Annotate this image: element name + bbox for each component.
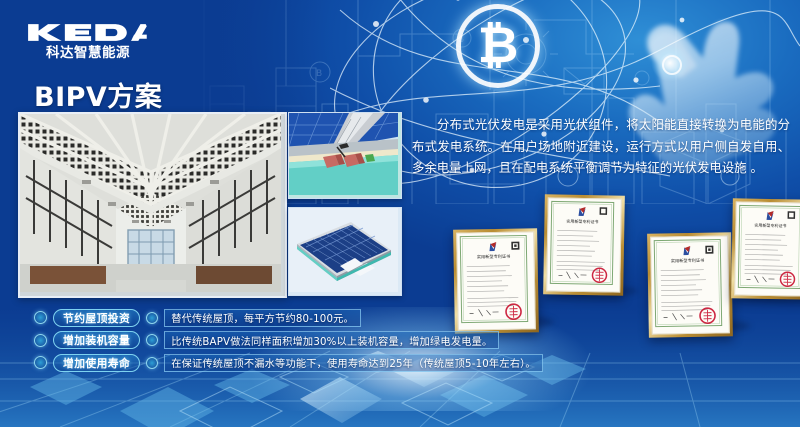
certificate-frame[interactable]: 实用新型专利证书 xyxy=(647,232,733,337)
bitcoin-icon: ₿ xyxy=(456,4,540,88)
bullet-dot-icon xyxy=(34,356,47,369)
page-title: BIPV方案 xyxy=(34,75,162,114)
pv-module-diagram xyxy=(288,207,402,296)
brand-logo[interactable]: 科达智慧能源 xyxy=(26,22,150,64)
certificate-page: 实用新型专利证书 xyxy=(650,235,730,334)
svg-text:实用新型专利证书: 实用新型专利证书 xyxy=(566,218,598,225)
certificate-page: 实用新型专利证书 xyxy=(734,201,800,296)
benefit-row: 增加装机容量 比传统BAPV做法同样面积增加30%以上装机容量，增加绿电发电量。 xyxy=(34,332,434,349)
intro-paragraph: 分布式光伏发电是采用光伏组件，将太阳能直接转换为电能的分布式发电系统。在用户场地… xyxy=(412,114,790,179)
certificate-page: 实用新型专利证书 xyxy=(546,197,622,292)
certificate-frame[interactable]: 实用新型专利证书 xyxy=(731,198,800,299)
benefits-list: 节约屋顶投资 替代传统屋顶，每平方节约80-100元。 增加装机容量 比传统BA… xyxy=(34,309,434,377)
bullet-dot-icon xyxy=(146,312,158,324)
patent-certificates: 实用新型专利证书 xyxy=(440,193,800,333)
certificate-page: 实用新型专利证书 xyxy=(456,231,536,330)
brand-subtitle: 科达智慧能源 xyxy=(26,45,150,61)
touch-point-glow xyxy=(651,44,689,82)
keda-logo-icon xyxy=(26,22,147,43)
benefit-row: 增加使用寿命 在保证传统屋顶不漏水等功能下，使用寿命达到25年（传统屋顶5-10… xyxy=(34,354,434,371)
mounting-detail-diagram xyxy=(288,112,402,199)
benefit-label: 节约屋顶投资 xyxy=(53,309,140,327)
benefit-row: 节约屋顶投资 替代传统屋顶，每平方节约80-100元。 xyxy=(34,309,434,326)
benefit-detail: 比传统BAPV做法同样面积增加30%以上装机容量，增加绿电发电量。 xyxy=(164,331,499,349)
poster-canvas: B B xyxy=(0,0,800,427)
benefit-label: 增加装机容量 xyxy=(53,331,140,349)
certificate-frame[interactable]: 实用新型专利证书 xyxy=(453,228,539,333)
bullet-dot-icon xyxy=(146,357,158,369)
bullet-dot-icon xyxy=(146,334,158,346)
svg-text:实用新型专利证书: 实用新型专利证书 xyxy=(754,222,786,229)
benefit-label: 增加使用寿命 xyxy=(53,354,140,372)
bullet-dot-icon xyxy=(34,311,47,324)
bullet-dot-icon xyxy=(34,334,47,347)
benefit-detail: 替代传统屋顶，每平方节约80-100元。 xyxy=(164,309,361,327)
bipv-skylight-photo xyxy=(18,112,287,298)
bitcoin-symbol: ₿ xyxy=(478,20,519,70)
benefit-detail: 在保证传统屋顶不漏水等功能下，使用寿命达到25年（传统屋顶5-10年左右）。 xyxy=(164,354,543,372)
certificate-frame[interactable]: 实用新型专利证书 xyxy=(543,194,625,295)
